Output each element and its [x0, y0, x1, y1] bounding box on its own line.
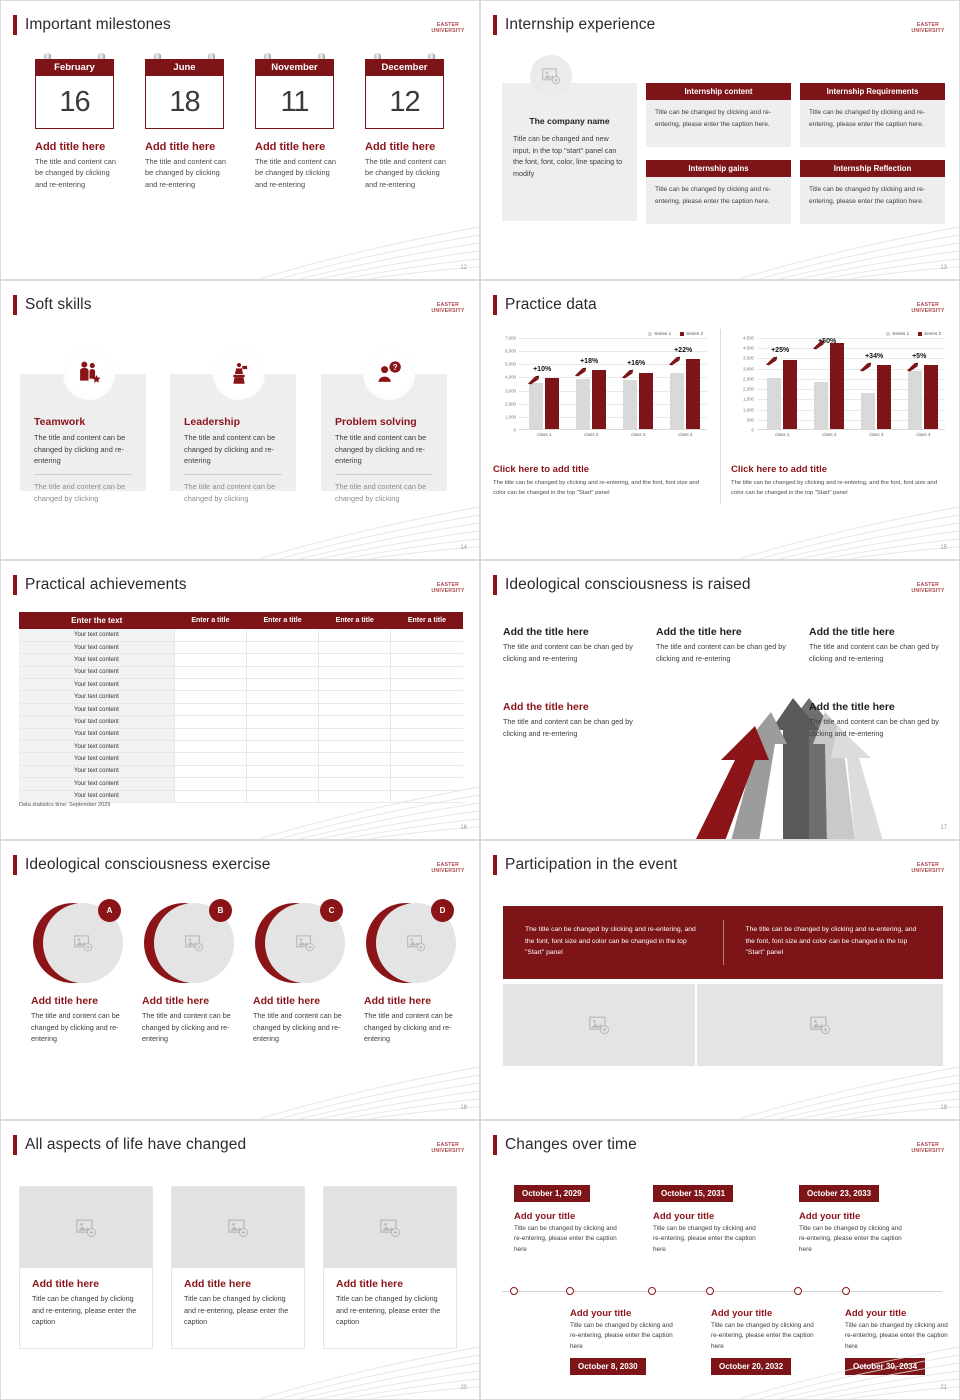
- event-body: Title can be changed by clicking and re-…: [514, 1224, 626, 1255]
- timeline-event-top[interactable]: October 15, 2031 Add your title Title ca…: [653, 1183, 765, 1255]
- table-cell[interactable]: [391, 629, 463, 641]
- image-placeholder-icon: [406, 933, 426, 953]
- internship-section[interactable]: Internship Reflection Title can be chang…: [800, 160, 945, 224]
- bar[interactable]: [545, 378, 559, 429]
- table-cell[interactable]: [319, 641, 391, 653]
- logo-line-2: UNIVERSITY: [911, 589, 944, 594]
- brand-logo: EASTER UNIVERSITY: [430, 1141, 466, 1156]
- image-placeholder[interactable]: [172, 1187, 304, 1268]
- bar-group[interactable]: class 2: [814, 343, 844, 429]
- table-cell[interactable]: [174, 753, 246, 765]
- image-placeholder[interactable]: [324, 1187, 456, 1268]
- bar[interactable]: [670, 373, 684, 430]
- event-title: Add your title: [653, 1211, 765, 1222]
- slide-grid: Important milestones EASTER UNIVERSITY F…: [0, 0, 960, 1400]
- image-placeholder-right[interactable]: [697, 984, 943, 1066]
- x-axis-label: class 4: [678, 432, 692, 437]
- table-cell[interactable]: [319, 790, 391, 802]
- table-cell[interactable]: [319, 629, 391, 641]
- table-header-cell: Enter a title: [247, 612, 319, 629]
- timeline-dot[interactable]: [706, 1287, 714, 1295]
- table-cell[interactable]: [247, 716, 319, 728]
- table-cell[interactable]: [391, 728, 463, 740]
- timeline-dot[interactable]: [794, 1287, 802, 1295]
- bar[interactable]: [686, 359, 700, 429]
- page-title: Soft skills: [25, 296, 92, 314]
- table-cell[interactable]: Your text content: [19, 629, 174, 641]
- item-title: Add title here: [142, 995, 232, 1007]
- calendar-body: 11: [255, 76, 334, 129]
- table-row[interactable]: Your text content: [19, 629, 463, 641]
- chart-plot-area: 01,0002,0003,0004,0005,0006,0007,000clas…: [519, 338, 707, 430]
- table-cell[interactable]: [391, 641, 463, 653]
- timeline-event-bottom[interactable]: Add your title Title can be changed by c…: [845, 1299, 957, 1375]
- section-head: Internship Requirements: [800, 83, 945, 100]
- bar[interactable]: [877, 365, 891, 429]
- section-body: Title can be changed by clicking and re-…: [800, 177, 945, 224]
- brand-logo: EASTER UNIVERSITY: [910, 861, 946, 876]
- skill-body-primary: The title and content can be changed by …: [184, 432, 282, 467]
- raised-item[interactable]: Add the title here The title and content…: [656, 626, 788, 664]
- slide-number: 15: [940, 545, 947, 551]
- y-axis-tick: 2,500: [743, 376, 754, 381]
- table-cell[interactable]: [391, 753, 463, 765]
- legend-entry: Series 2: [680, 331, 703, 336]
- growth-arrow-icon: [574, 367, 587, 377]
- image-placeholder[interactable]: [20, 1187, 152, 1268]
- table-cell[interactable]: Your text content: [19, 753, 174, 765]
- aspect-card[interactable]: Add title here Title can be changed by c…: [171, 1186, 305, 1349]
- internship-section[interactable]: Internship Requirements Title can be cha…: [800, 83, 945, 147]
- table-cell[interactable]: [174, 691, 246, 703]
- slide-number: 13: [940, 265, 947, 271]
- title-accent-bar: [13, 15, 17, 35]
- y-axis-tick: 1,500: [743, 397, 754, 402]
- item-title: Add the title here: [809, 626, 941, 638]
- calendar-day: 11: [280, 86, 308, 119]
- event-date: October 23, 2033: [799, 1185, 879, 1202]
- divider: [720, 329, 721, 504]
- slide-header: Practical achievements: [13, 575, 467, 595]
- image-placeholder-icon: [227, 1217, 249, 1239]
- title-accent-bar: [13, 295, 17, 315]
- legend-swatch: [680, 332, 684, 336]
- skill-body-secondary: The title and content can be changed by …: [34, 481, 132, 504]
- page-title: Ideological consciousness exercise: [25, 856, 271, 874]
- percent-annotation: +25%: [771, 347, 789, 354]
- x-axis-label: class 3: [869, 432, 883, 437]
- logo-line-2: UNIVERSITY: [431, 1149, 464, 1154]
- table-row[interactable]: Your text content: [19, 728, 463, 740]
- bar-group[interactable]: class 3: [623, 373, 653, 430]
- table-row[interactable]: Your text content: [19, 691, 463, 703]
- table-cell[interactable]: [319, 778, 391, 790]
- table-row[interactable]: Your text content: [19, 703, 463, 715]
- y-axis-tick: 1,000: [743, 407, 754, 412]
- band-text-left: The title can be changed by clicking and…: [503, 906, 723, 979]
- calendar-body: 16: [35, 76, 114, 129]
- calendar-icon: June 18: [145, 59, 224, 129]
- milestone-item[interactable]: February 16 Add title here The title and…: [35, 59, 119, 190]
- item-title: Add the title here: [656, 626, 788, 638]
- page-title: Ideological consciousness is raised: [505, 576, 751, 594]
- growth-arrow-icon: [621, 369, 634, 379]
- company-name: The company name: [502, 116, 637, 126]
- timeline-dot[interactable]: [510, 1287, 518, 1295]
- title-accent-bar: [493, 1135, 497, 1155]
- table-row[interactable]: Your text content: [19, 753, 463, 765]
- table-cell[interactable]: [391, 691, 463, 703]
- timeline-event-top[interactable]: October 1, 2029 Add your title Title can…: [514, 1183, 626, 1255]
- item-badge: B: [209, 899, 232, 922]
- table-cell[interactable]: [391, 765, 463, 777]
- table-cell[interactable]: Your text content: [19, 641, 174, 653]
- slide-header: Participation in the event: [493, 855, 947, 875]
- achievements-table[interactable]: Enter the textEnter a titleEnter a title…: [19, 612, 463, 803]
- calendar-month: February: [35, 59, 114, 76]
- item-badge: D: [431, 899, 454, 922]
- image-placeholder-icon: [75, 1217, 97, 1239]
- logo-line-2: UNIVERSITY: [431, 309, 464, 314]
- table-cell[interactable]: [319, 716, 391, 728]
- table-cell[interactable]: [319, 654, 391, 666]
- bar-group[interactable]: class 2: [576, 370, 606, 429]
- timeline-event-bottom[interactable]: Add your title Title can be changed by c…: [711, 1299, 823, 1375]
- title-accent-bar: [493, 295, 497, 315]
- aspect-card[interactable]: Add title here Title can be changed by c…: [19, 1186, 153, 1349]
- internship-section[interactable]: Internship content Title can be changed …: [646, 83, 791, 147]
- slide-number: 17: [940, 825, 947, 831]
- table-row[interactable]: Your text content: [19, 654, 463, 666]
- table-cell[interactable]: [319, 666, 391, 678]
- company-image-placeholder[interactable]: [530, 55, 572, 97]
- table-cell[interactable]: Your text content: [19, 741, 174, 753]
- bar[interactable]: [861, 393, 875, 429]
- milestone-item[interactable]: June 18 Add title here The title and con…: [145, 59, 229, 190]
- exercise-item[interactable]: C Add title here The title and content c…: [253, 899, 343, 1045]
- bar[interactable]: [623, 380, 637, 429]
- table-row[interactable]: Your text content: [19, 790, 463, 802]
- percent-annotation: +18%: [580, 358, 598, 365]
- table-cell[interactable]: [391, 778, 463, 790]
- x-axis-label: class 1: [537, 432, 551, 437]
- exercise-item[interactable]: B Add title here The title and content c…: [142, 899, 232, 1045]
- table-cell[interactable]: Your text content: [19, 666, 174, 678]
- table-header-cell: Enter a title: [319, 612, 391, 629]
- bar-group[interactable]: class 3: [861, 365, 891, 429]
- y-axis-tick: 4,000: [743, 346, 754, 351]
- page-title: Changes over time: [505, 1136, 637, 1154]
- table-cell[interactable]: [247, 728, 319, 740]
- table-cell[interactable]: Your text content: [19, 679, 174, 691]
- page-title: All aspects of life have changed: [25, 1136, 246, 1154]
- legend-swatch: [918, 332, 922, 336]
- table-row[interactable]: Your text content: [19, 778, 463, 790]
- legend-swatch: [886, 332, 890, 336]
- slide-practice-data: Practice data EASTER UNIVERSITY Series 1…: [480, 280, 960, 560]
- table-cell[interactable]: [319, 753, 391, 765]
- table-cell[interactable]: [247, 790, 319, 802]
- bar[interactable]: [529, 383, 543, 429]
- table-cell[interactable]: [247, 778, 319, 790]
- card-body: Title can be changed by clicking and re-…: [184, 1293, 292, 1328]
- item-title: Add title here: [364, 995, 454, 1007]
- table-cell[interactable]: [247, 765, 319, 777]
- logo-line-2: UNIVERSITY: [431, 29, 464, 34]
- leadership-icon: [213, 348, 265, 400]
- raised-item[interactable]: Add the title here The title and content…: [809, 701, 941, 739]
- participation-band: The title can be changed by clicking and…: [503, 906, 943, 979]
- y-axis-tick: 3,500: [743, 356, 754, 361]
- aspect-card[interactable]: Add title here Title can be changed by c…: [323, 1186, 457, 1349]
- milestone-item[interactable]: November 11 Add title here The title and…: [255, 59, 339, 190]
- bar-group[interactable]: class 1: [767, 360, 797, 430]
- table-cell[interactable]: [247, 679, 319, 691]
- event-title: Add your title: [570, 1308, 682, 1319]
- raised-item[interactable]: Add the title here The title and content…: [503, 701, 635, 739]
- table-cell[interactable]: [174, 790, 246, 802]
- table-row[interactable]: Your text content: [19, 666, 463, 678]
- item-title: Add the title here: [503, 626, 635, 638]
- page-title: Important milestones: [25, 16, 171, 34]
- table-cell[interactable]: [319, 691, 391, 703]
- table-cell[interactable]: [391, 654, 463, 666]
- legend-entry: Series 2: [918, 331, 941, 336]
- brand-logo: EASTER UNIVERSITY: [910, 1141, 946, 1156]
- caption-title: Click here to add title: [493, 464, 708, 475]
- section-head: Internship Reflection: [800, 160, 945, 177]
- slide-practical-achievements: Practical achievements EASTER UNIVERSITY…: [0, 560, 480, 840]
- table-cell[interactable]: Your text content: [19, 728, 174, 740]
- table-cell[interactable]: [174, 654, 246, 666]
- chart-caption-right[interactable]: Click here to add title The title can be…: [731, 464, 946, 499]
- section-body: Title can be changed by clicking and re-…: [646, 177, 791, 224]
- logo-line-2: UNIVERSITY: [911, 869, 944, 874]
- table-cell[interactable]: [247, 641, 319, 653]
- teamwork-icon: [63, 348, 115, 400]
- bar-chart-left: Series 1Series 201,0002,0003,0004,0005,0…: [493, 331, 711, 449]
- table-cell[interactable]: [391, 790, 463, 802]
- table-cell[interactable]: Your text content: [19, 790, 174, 802]
- slide-ideological-raised: Ideological consciousness is raised EAST…: [480, 560, 960, 840]
- image-placeholder-icon: [184, 933, 204, 953]
- table-cell[interactable]: [174, 741, 246, 753]
- table-cell[interactable]: [319, 703, 391, 715]
- title-accent-bar: [493, 15, 497, 35]
- x-axis-label: class 2: [584, 432, 598, 437]
- event-date: October 8, 2030: [570, 1358, 646, 1375]
- table-cell[interactable]: [247, 753, 319, 765]
- item-title: Add title here: [253, 995, 343, 1007]
- slide-header: All aspects of life have changed: [13, 1135, 467, 1155]
- skill-body-secondary: The title and content can be changed by …: [335, 481, 433, 504]
- timeline-dot[interactable]: [648, 1287, 656, 1295]
- y-axis-tick: 2,000: [743, 387, 754, 392]
- table-cell[interactable]: Your text content: [19, 716, 174, 728]
- title-accent-bar: [493, 855, 497, 875]
- table-cell[interactable]: [174, 716, 246, 728]
- exercise-item[interactable]: D Add title here The title and content c…: [364, 899, 454, 1045]
- table-cell[interactable]: [319, 728, 391, 740]
- table-cell[interactable]: Your text content: [19, 778, 174, 790]
- exercise-list: A Add title here The title and content c…: [31, 899, 454, 1045]
- growth-arrow-icon: [812, 340, 825, 350]
- decorative-waves: [249, 199, 479, 279]
- bar[interactable]: [924, 365, 938, 429]
- table-header-cell: Enter a title: [174, 612, 246, 629]
- timeline-event-top[interactable]: October 23, 2033 Add your title Title ca…: [799, 1183, 911, 1255]
- slide-number: 21: [940, 1385, 947, 1391]
- table-cell[interactable]: [391, 703, 463, 715]
- skill-title: Teamwork: [34, 416, 132, 428]
- table-cell[interactable]: [391, 716, 463, 728]
- x-axis-label: class 4: [916, 432, 930, 437]
- growth-arrow-icon: [668, 356, 681, 366]
- table-cell[interactable]: [319, 679, 391, 691]
- card-body: Title can be changed by clicking and re-…: [32, 1293, 140, 1328]
- table-cell[interactable]: [247, 629, 319, 641]
- milestone-title: Add title here: [145, 141, 229, 153]
- y-axis-tick: 4,000: [505, 375, 516, 380]
- exercise-item[interactable]: A Add title here The title and content c…: [31, 899, 121, 1045]
- bar-group[interactable]: class 4: [670, 359, 700, 429]
- slide-all-aspects: All aspects of life have changed EASTER …: [0, 1120, 480, 1400]
- bar[interactable]: [908, 371, 922, 429]
- table-cell[interactable]: [174, 629, 246, 641]
- table-cell[interactable]: [391, 666, 463, 678]
- legend-swatch: [648, 332, 652, 336]
- table-row[interactable]: Your text content: [19, 765, 463, 777]
- item-body: The title and content can be changed by …: [31, 1010, 121, 1045]
- image-placeholder-left[interactable]: [503, 984, 695, 1066]
- calendar-body: 18: [145, 76, 224, 129]
- milestone-item[interactable]: December 12 Add title here The title and…: [365, 59, 449, 190]
- table-cell[interactable]: [247, 691, 319, 703]
- table-cell[interactable]: [319, 765, 391, 777]
- milestone-list: February 16 Add title here The title and…: [35, 59, 459, 190]
- table-cell[interactable]: [174, 765, 246, 777]
- bar-group[interactable]: class 4: [908, 365, 938, 429]
- bar[interactable]: [576, 379, 590, 429]
- bar[interactable]: [592, 370, 606, 429]
- slide-important-milestones: Important milestones EASTER UNIVERSITY F…: [0, 0, 480, 280]
- title-accent-bar: [13, 855, 17, 875]
- calendar-day: 18: [169, 86, 199, 119]
- skill-title: Leadership: [184, 416, 282, 428]
- bar[interactable]: [830, 343, 844, 429]
- bar[interactable]: [767, 378, 781, 429]
- table-cell[interactable]: Your text content: [19, 654, 174, 666]
- table-cell[interactable]: [247, 654, 319, 666]
- timeline-event-bottom[interactable]: Add your title Title can be changed by c…: [570, 1299, 682, 1375]
- caption-title: Click here to add title: [731, 464, 946, 475]
- slide-number: 19: [940, 1105, 947, 1111]
- band-text-right: The title can be changed by clicking and…: [724, 906, 944, 979]
- item-body: The title and content can be chan ged by…: [809, 641, 941, 664]
- y-axis-tick: 0: [752, 428, 754, 433]
- table-row[interactable]: Your text content: [19, 679, 463, 691]
- growth-arrow-icon: [859, 362, 872, 372]
- table-cell[interactable]: [391, 741, 463, 753]
- y-axis-tick: 500: [747, 417, 754, 422]
- event-date: October 30, 2034: [845, 1358, 925, 1375]
- table-cell[interactable]: [174, 728, 246, 740]
- item-badge: C: [320, 899, 343, 922]
- bar[interactable]: [783, 360, 797, 430]
- table-cell[interactable]: [174, 641, 246, 653]
- table-cell[interactable]: Your text content: [19, 691, 174, 703]
- raised-item[interactable]: Add the title here The title and content…: [809, 626, 941, 664]
- item-body: The title and content can be chan ged by…: [656, 641, 788, 664]
- table-cell[interactable]: [174, 679, 246, 691]
- item-body: The title and content can be chan ged by…: [503, 641, 635, 664]
- calendar-day: 16: [59, 86, 89, 119]
- y-axis-tick: 4,500: [743, 336, 754, 341]
- table-cell[interactable]: [319, 741, 391, 753]
- table-cell[interactable]: [391, 679, 463, 691]
- table-note: Data statistics time: September 2029: [19, 802, 110, 808]
- chart-legend: Series 1Series 2: [493, 331, 711, 336]
- table-cell[interactable]: Your text content: [19, 765, 174, 777]
- gridline: [519, 338, 707, 339]
- bar-group[interactable]: class 1: [529, 378, 559, 429]
- milestone-body: The title and content can be changed by …: [365, 156, 449, 190]
- percent-annotation: +16%: [627, 360, 645, 367]
- calendar-month: December: [365, 59, 444, 76]
- chart-caption-left[interactable]: Click here to add title The title can be…: [493, 464, 708, 499]
- table-cell[interactable]: [247, 666, 319, 678]
- internship-section[interactable]: Internship gains Title can be changed by…: [646, 160, 791, 224]
- raised-item[interactable]: Add the title here The title and content…: [503, 626, 635, 664]
- item-badge: A: [98, 899, 121, 922]
- problem-solving-icon: [363, 348, 415, 400]
- slide-internship-experience: Internship experience EASTER UNIVERSITY …: [480, 0, 960, 280]
- table-cell[interactable]: [247, 741, 319, 753]
- slide-number: 16: [460, 825, 467, 831]
- table-row[interactable]: Your text content: [19, 641, 463, 653]
- table-cell[interactable]: [174, 703, 246, 715]
- table-row[interactable]: Your text content: [19, 741, 463, 753]
- table-cell[interactable]: [247, 703, 319, 715]
- calendar-icon: November 11: [255, 59, 334, 129]
- table-cell[interactable]: Your text content: [19, 703, 174, 715]
- image-placeholder-icon: [73, 933, 93, 953]
- skill-body-primary: The title and content can be changed by …: [335, 432, 433, 467]
- divider: [335, 474, 433, 475]
- table-cell[interactable]: [174, 778, 246, 790]
- timeline-dot[interactable]: [842, 1287, 850, 1295]
- milestone-body: The title and content can be changed by …: [145, 156, 229, 190]
- table-row[interactable]: Your text content: [19, 716, 463, 728]
- slide-header: Ideological consciousness exercise: [13, 855, 467, 875]
- logo-line-2: UNIVERSITY: [911, 1149, 944, 1154]
- section-body: Title can be changed by clicking and re-…: [800, 100, 945, 147]
- bar[interactable]: [639, 373, 653, 430]
- timeline-dot[interactable]: [566, 1287, 574, 1295]
- chart-legend: Series 1Series 2: [731, 331, 949, 336]
- slide-header: Internship experience: [493, 15, 947, 35]
- section-body: Title can be changed by clicking and re-…: [646, 100, 791, 147]
- logo-line-2: UNIVERSITY: [911, 309, 944, 314]
- bar[interactable]: [814, 382, 828, 429]
- item-title: Add the title here: [503, 701, 635, 713]
- item-body: The title and content can be chan ged by…: [503, 716, 635, 739]
- percent-annotation: +34%: [865, 353, 883, 360]
- item-body: The title and content can be chan ged by…: [809, 716, 941, 739]
- table-cell[interactable]: [174, 666, 246, 678]
- slide-header: Changes over time: [493, 1135, 947, 1155]
- event-title: Add your title: [845, 1308, 957, 1319]
